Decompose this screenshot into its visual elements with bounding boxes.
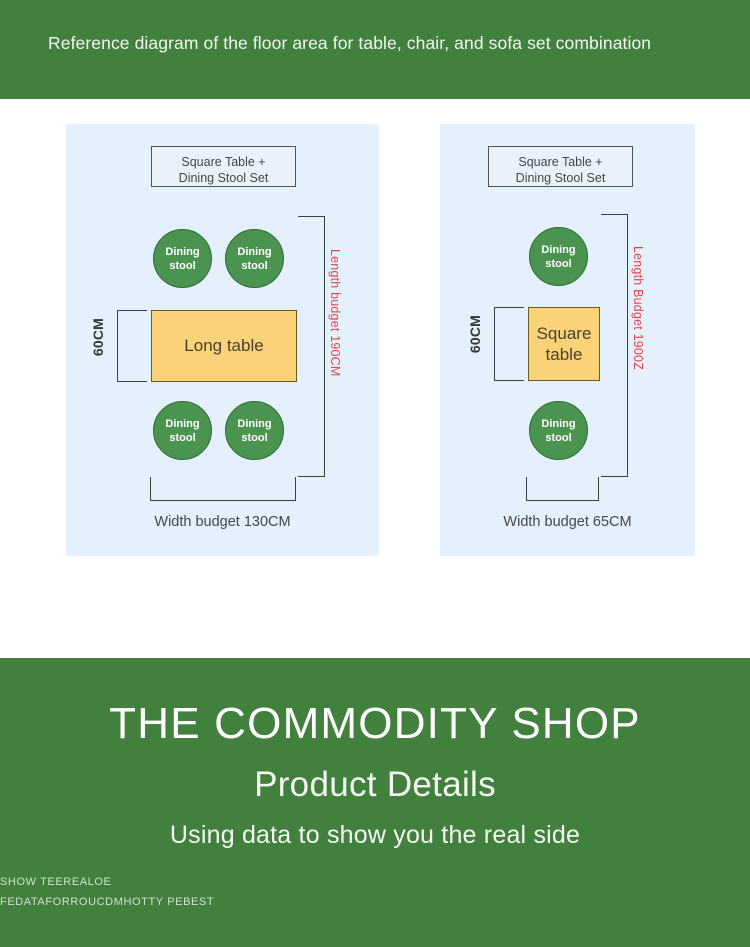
long-table-shape: Long table bbox=[151, 310, 297, 382]
caption-line-1: Square Table + bbox=[495, 154, 626, 170]
stool-label-line-2: stool bbox=[169, 431, 195, 445]
width-bracket-bottom bbox=[526, 477, 599, 501]
width-bracket-bottom bbox=[150, 477, 296, 501]
length-budget-label: Length Budget 1900Z bbox=[631, 246, 645, 370]
stool-label-line-1: Dining bbox=[165, 417, 199, 431]
caption-line-1: Square Table + bbox=[158, 154, 289, 170]
stool-label-line-1: Dining bbox=[237, 245, 271, 259]
stool-top-left: Dining stool bbox=[153, 229, 212, 288]
stool-top: Dining stool bbox=[529, 227, 588, 286]
panel-square-table-set: Square Table + Dining Stool Set Dining s… bbox=[440, 124, 695, 556]
panel-long-table-set: Square Table + Dining Stool Set Dining s… bbox=[66, 124, 379, 556]
footer-title: THE COMMODITY SHOP bbox=[0, 699, 750, 749]
stool-bottom: Dining stool bbox=[529, 401, 588, 460]
stool-label-line-2: stool bbox=[545, 431, 571, 445]
length-bracket-right bbox=[298, 216, 325, 477]
square-table-shape: Squaretable bbox=[528, 307, 600, 381]
square-table-label-line-1: Square bbox=[537, 324, 592, 343]
square-table-label: Squaretable bbox=[537, 323, 592, 365]
stool-label-line-2: stool bbox=[241, 431, 267, 445]
depth-label-60cm: 60CM bbox=[90, 318, 106, 356]
stool-label-line-1: Dining bbox=[541, 417, 575, 431]
stool-bottom-right: Dining stool bbox=[225, 401, 284, 460]
footer-tagline: Using data to show you the real side bbox=[0, 821, 750, 850]
long-table-label: Long table bbox=[184, 336, 263, 356]
length-budget-label: Length budget 190CM bbox=[328, 249, 342, 377]
depth-bracket-left bbox=[117, 310, 147, 382]
stool-label-line-2: stool bbox=[545, 257, 571, 271]
diagram-area: Square Table + Dining Stool Set Dining s… bbox=[0, 99, 750, 658]
stool-label-line-2: stool bbox=[241, 259, 267, 273]
stool-bottom-left: Dining stool bbox=[153, 401, 212, 460]
stool-label-line-2: stool bbox=[169, 259, 195, 273]
footer-subtitle: Product Details bbox=[0, 765, 750, 805]
length-bracket-right bbox=[601, 214, 628, 477]
header-banner: Reference diagram of the floor area for … bbox=[0, 0, 750, 99]
stool-label-line-1: Dining bbox=[541, 243, 575, 257]
width-budget-label: Width budget 130CM bbox=[66, 514, 379, 530]
stool-label-line-1: Dining bbox=[237, 417, 271, 431]
caption-line-2: Dining Stool Set bbox=[495, 170, 626, 186]
page-title: Reference diagram of the floor area for … bbox=[48, 33, 651, 54]
stool-top-right: Dining stool bbox=[225, 229, 284, 288]
caption-line-2: Dining Stool Set bbox=[158, 170, 289, 186]
footer-micro-text-2: FEDATAFORROUCDMHOTTY PEBEST bbox=[0, 896, 750, 908]
caption-box-long-table-set: Square Table + Dining Stool Set bbox=[151, 146, 296, 187]
depth-label-60cm: 60CM bbox=[467, 315, 483, 353]
footer-micro-text-1: SHOW TEEREALOE bbox=[0, 876, 750, 888]
square-table-label-line-2: table bbox=[546, 345, 583, 364]
width-budget-label: Width budget 65CM bbox=[440, 514, 695, 530]
caption-box-square-table-set: Square Table + Dining Stool Set bbox=[488, 146, 633, 187]
stool-label-line-1: Dining bbox=[165, 245, 199, 259]
depth-bracket-left bbox=[494, 307, 524, 381]
